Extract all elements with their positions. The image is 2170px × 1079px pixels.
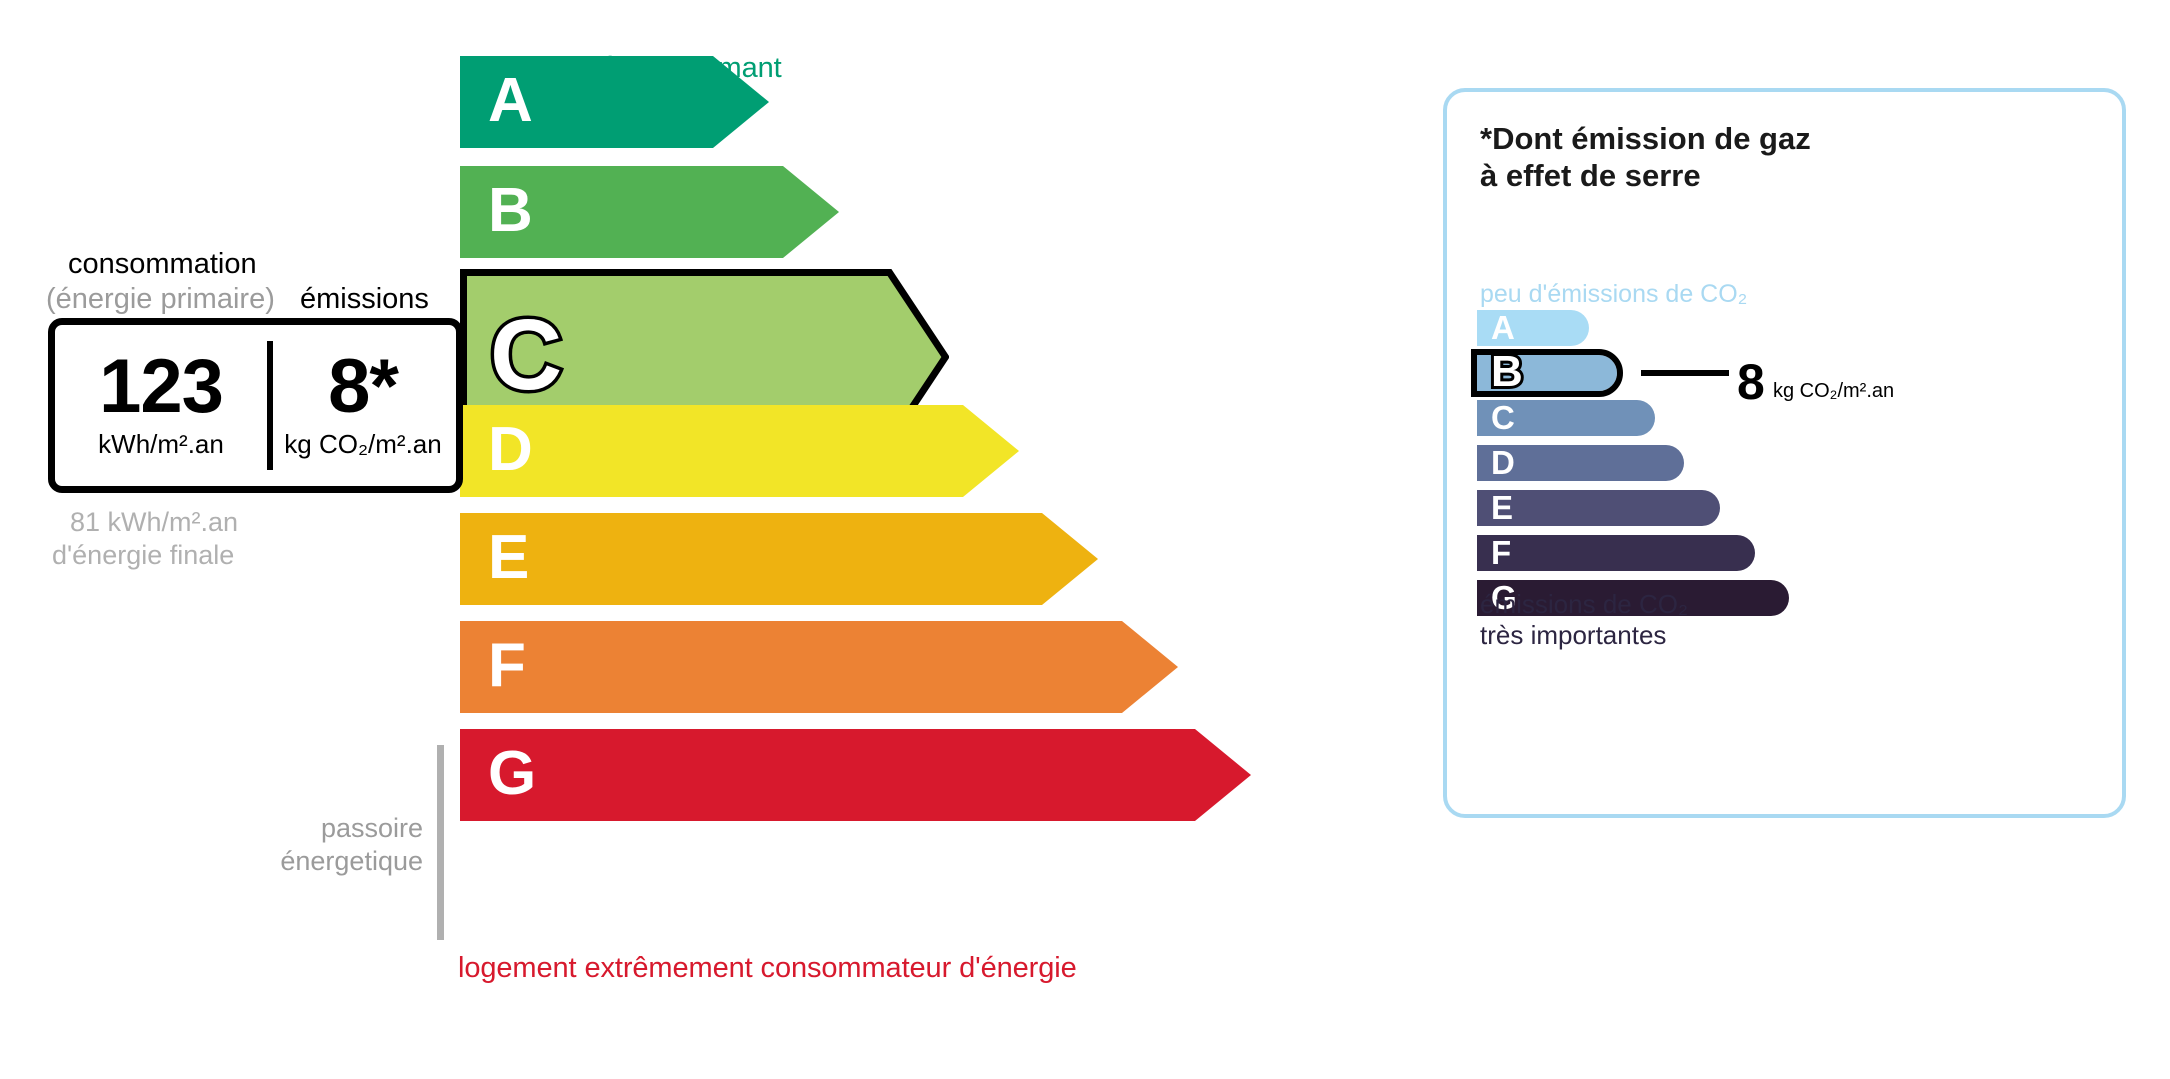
energy-class-row-d: D	[460, 405, 1019, 497]
ges-class-row-a: A	[1477, 310, 1589, 346]
ges-title-line1: *Dont émission de gaz	[1480, 120, 1811, 157]
ges-class-letter-a: A	[1491, 311, 1515, 344]
energie-primaire-label: (énergie primaire)	[46, 283, 275, 316]
energy-class-letter-e: E	[488, 527, 529, 589]
consumption-value-box: 123 kWh/m².an 8* kg CO₂/m².an	[48, 318, 463, 493]
energy-class-arrow-f	[460, 621, 1178, 713]
final-energy-note: 81 kWh/m².an d'énergie finale	[70, 506, 238, 572]
dpe-label: logement très performant ABCDEFG 123 kWh…	[0, 0, 2170, 1079]
passoire-label: passoire énergetique	[278, 812, 423, 878]
energy-class-row-a: A	[460, 56, 769, 148]
ges-class-row-d: D	[1477, 445, 1684, 481]
energy-class-letter-g: G	[488, 743, 536, 805]
ges-value-cell: 8* kg CO₂/m².an	[268, 325, 458, 486]
ges-class-letter-d: D	[1491, 446, 1515, 479]
primary-energy-value: 123	[99, 351, 223, 424]
consommation-label: consommation	[68, 248, 257, 281]
energy-class-arrow-e	[460, 513, 1098, 605]
passoire-line1: passoire	[278, 812, 423, 845]
ges-panel-title: *Dont émission de gaz à effet de serre	[1480, 120, 1811, 194]
greenhouse-gas-panel: *Dont émission de gaz à effet de serre p…	[1443, 88, 2126, 818]
energy-bottom-caption: logement extrêmement consommateur d'éner…	[458, 952, 1077, 985]
ges-class-letter-e: E	[1491, 491, 1513, 524]
ges-class-row-b: B	[1477, 355, 1617, 391]
ges-class-row-c: C	[1477, 400, 1655, 436]
energy-consumption-panel: logement très performant ABCDEFG 123 kWh…	[0, 0, 1400, 1079]
energy-class-arrow-d	[460, 405, 1019, 497]
final-energy-line1: 81 kWh/m².an	[70, 507, 238, 537]
energy-class-letter-c: C	[490, 305, 562, 405]
ges-bottom-line1: émissions de CO₂	[1480, 589, 1688, 620]
ges-leader-line	[1641, 370, 1729, 376]
ges-class-row-f: F	[1477, 535, 1755, 571]
ges-class-letter-c: C	[1491, 401, 1515, 434]
ges-class-bar-f	[1477, 535, 1755, 571]
ges-class-row-e: E	[1477, 490, 1720, 526]
ges-class-letter-f: F	[1491, 536, 1511, 569]
passoire-line2: énergetique	[278, 845, 423, 878]
energy-class-letter-b: B	[488, 180, 533, 242]
ges-top-caption: peu d'émissions de CO₂	[1480, 280, 1747, 309]
ges-class-letter-b: B	[1491, 350, 1523, 394]
ges-selected-value: 8	[1737, 357, 1765, 407]
ges-emission-value: 8*	[328, 351, 398, 424]
final-energy-line2: d'énergie finale	[52, 539, 238, 572]
passoire-bracket	[437, 745, 444, 940]
ges-selected-value-unit: kg CO₂/m².an	[1773, 380, 1894, 403]
ges-bottom-line2: très importantes	[1480, 620, 1688, 651]
energy-class-letter-d: D	[488, 419, 533, 481]
energy-class-row-g: G	[460, 729, 1251, 821]
energy-class-row-e: E	[460, 513, 1098, 605]
energy-class-arrow-g	[460, 729, 1251, 821]
primary-energy-cell: 123 kWh/m².an	[55, 325, 267, 486]
energy-class-letter-a: A	[488, 70, 533, 132]
energy-class-row-b: B	[460, 166, 839, 258]
ges-class-bar-e	[1477, 490, 1720, 526]
energy-class-letter-f: F	[488, 635, 526, 697]
primary-energy-unit: kWh/m².an	[98, 429, 224, 460]
ges-emission-unit: kg CO₂/m².an	[284, 429, 441, 460]
ges-title-line2: à effet de serre	[1480, 157, 1811, 194]
ges-bottom-caption: émissions de CO₂ très importantes	[1480, 589, 1688, 651]
emissions-label: émissions	[300, 283, 429, 316]
energy-class-row-f: F	[460, 621, 1178, 713]
